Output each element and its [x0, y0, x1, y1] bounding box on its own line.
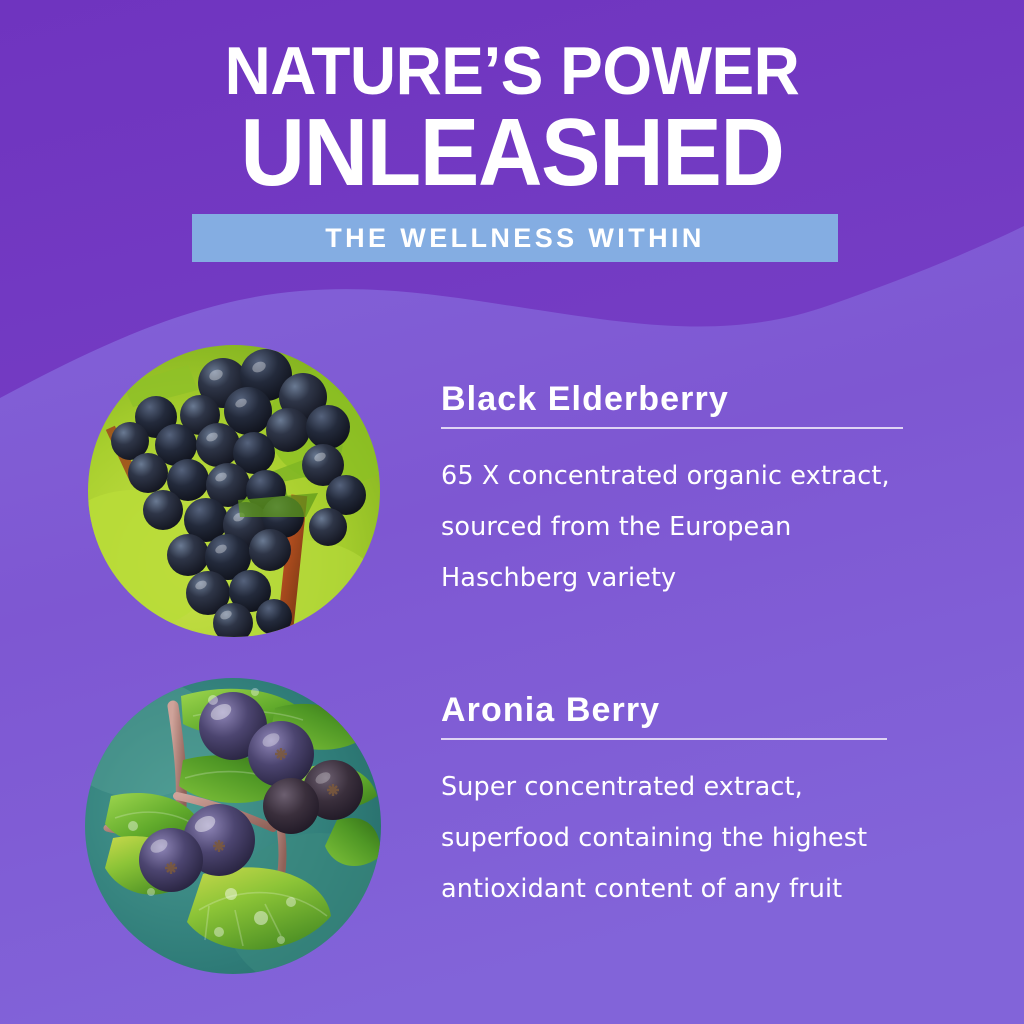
page-title-line-1: NATURE’S POWER [31, 0, 994, 106]
title-divider-black-elderberry [441, 427, 903, 429]
poster-header: NATURE’S POWER UNLEASHED [0, 0, 1024, 198]
ingredient-infographic-poster: NATURE’S POWER UNLEASHED THE WELLNESS WI… [0, 0, 1024, 1024]
black-elderberry-copy: Black Elderberry 65 X concentrated organ… [441, 380, 911, 604]
ingredient-description-aronia-berry: Super concentrated extract, superfood co… [441, 740, 909, 915]
page-title-line-2: UNLEASHED [36, 106, 988, 198]
ingredient-title-aronia-berry: Aronia Berry [441, 691, 911, 729]
aronia-berry-photo-art [85, 678, 381, 974]
aronia-berry-image [85, 678, 381, 974]
ingredient-title-black-elderberry: Black Elderberry [441, 380, 911, 418]
black-elderberry-image [88, 345, 380, 637]
ingredient-description-black-elderberry: 65 X concentrated organic extract, sourc… [441, 429, 911, 604]
subtitle-banner-label: THE WELLNESS WITHIN [325, 225, 705, 252]
title-divider-aronia-berry [441, 738, 887, 740]
subtitle-banner: THE WELLNESS WITHIN [192, 214, 838, 262]
black-elderberry-photo-art [88, 345, 380, 637]
aronia-berry-copy: Aronia Berry Super concentrated extract,… [441, 691, 911, 915]
